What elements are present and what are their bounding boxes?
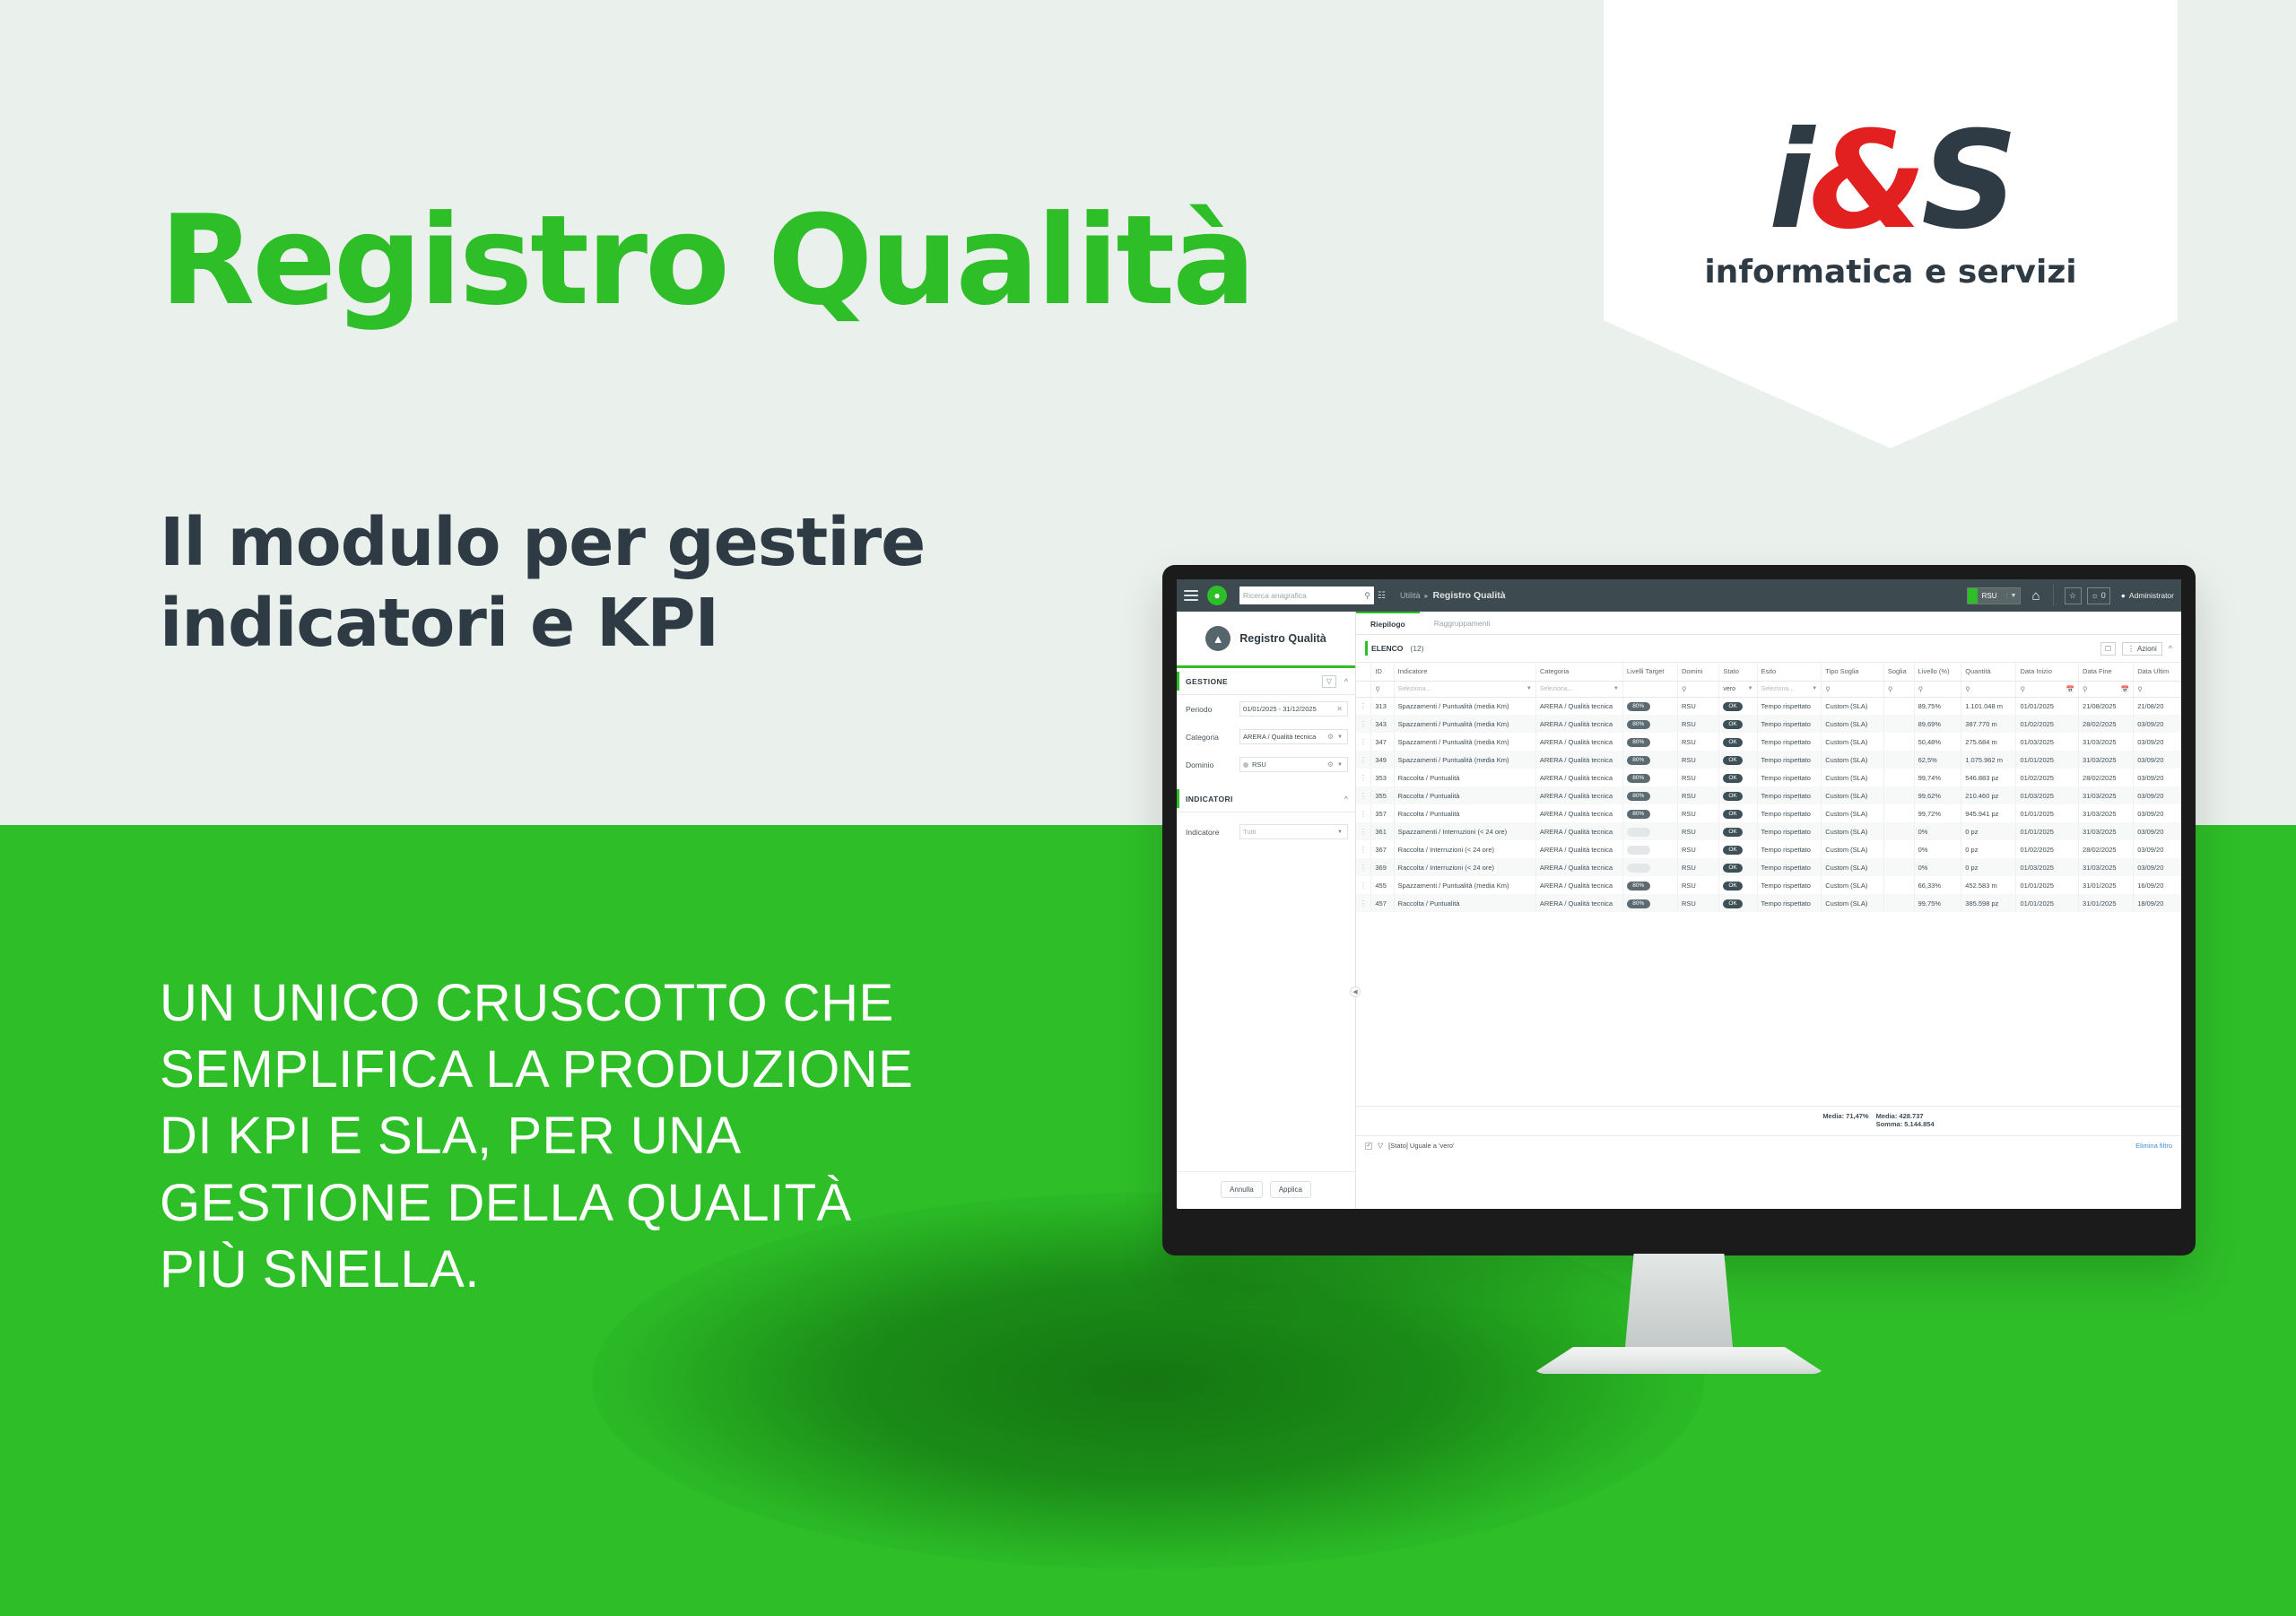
notifications-count: 0 bbox=[2101, 591, 2106, 600]
breadcrumb-separator-icon: ▸ bbox=[1424, 592, 1428, 600]
cell-domini: RSU bbox=[1677, 697, 1718, 715]
tab-bar: Riepilogo Raggruppamenti bbox=[1356, 612, 2181, 635]
col-indicatore[interactable]: Indicatore bbox=[1394, 663, 1535, 681]
chevron-down-icon[interactable]: ▼ bbox=[1335, 734, 1344, 740]
cell-categoria: ARERA / Qualità tecnica bbox=[1535, 840, 1622, 858]
cell-categoria: ARERA / Qualità tecnica bbox=[1535, 822, 1622, 840]
filter-enabled-checkbox[interactable]: ✓ bbox=[1365, 1142, 1372, 1150]
sidebar-section-gestione[interactable]: GESTIONE ▽ ^ bbox=[1177, 668, 1355, 695]
sidebar: ▲ Registro Qualità GESTIONE ▽ ^ Periodo bbox=[1177, 612, 1356, 1209]
chevron-down-icon: ▼ bbox=[1812, 686, 1817, 691]
cell-livello: 99,74% bbox=[1914, 769, 1961, 786]
chevron-down-icon: ▼ bbox=[1613, 686, 1619, 691]
cell-livello: 89,69% bbox=[1914, 715, 1961, 733]
cell-soglia bbox=[1883, 769, 1914, 786]
row-drag-handle: ⋮ bbox=[1356, 840, 1371, 858]
cell-livello: 50,48% bbox=[1914, 733, 1961, 751]
cell-livelli-target: 0% bbox=[1622, 858, 1677, 876]
app-topbar: ● Ricerca anagrafica ⚲ ☷ Utilità ▸ Regis… bbox=[1177, 579, 2181, 612]
cell-livello: 99,75% bbox=[1914, 894, 1961, 912]
cell-livello: 99,62% bbox=[1914, 786, 1961, 804]
dominio-value: RSU bbox=[1252, 760, 1326, 769]
logo-wordmark: i&S bbox=[1704, 114, 2076, 248]
col-data-inizio[interactable]: Data Inizio bbox=[2016, 663, 2079, 681]
cell-data-inizio: 01/01/2025 bbox=[2016, 822, 2079, 840]
sidebar-title: Registro Qualità bbox=[1239, 632, 1326, 645]
cell-data-inizio: 01/03/2025 bbox=[2016, 733, 2079, 751]
table-row[interactable]: ⋮355Raccolta / PuntualitàARERA / Qualità… bbox=[1356, 786, 2181, 804]
indicatore-value: Tutti bbox=[1243, 828, 1335, 836]
categoria-value: ARERA / Qualità tecnica bbox=[1243, 733, 1326, 741]
cell-esito: Tempo rispettato bbox=[1757, 894, 1822, 912]
cell-quantita: 0 pz bbox=[1961, 858, 2016, 876]
col-tipo-soglia[interactable]: Tipo Soglia bbox=[1822, 663, 1884, 681]
filter-livelli-target[interactable] bbox=[1622, 681, 1677, 697]
cell-esito: Tempo rispettato bbox=[1757, 876, 1822, 894]
search-icon: ⚲ bbox=[1965, 685, 1970, 693]
row-drag-handle: ⋮ bbox=[1356, 733, 1371, 751]
cell-quantita: 945.941 pz bbox=[1961, 804, 2016, 822]
row-drag-handle: ⋮ bbox=[1356, 894, 1371, 912]
field-label-periodo: Periodo bbox=[1186, 705, 1239, 714]
breadcrumb: Utilità ▸ Registro Qualità bbox=[1400, 590, 1506, 601]
logo-tagline: informatica e servizi bbox=[1704, 254, 2076, 291]
cell-livello: 0% bbox=[1914, 858, 1961, 876]
cell-tipo-soglia: Custom (SLA) bbox=[1822, 840, 1884, 858]
table-row[interactable]: ⋮347Spazzamenti / Puntualità (media Km)A… bbox=[1356, 733, 2181, 751]
actions-label: Azioni bbox=[2137, 645, 2157, 653]
sidebar-collapse-handle[interactable]: ◀ bbox=[1350, 986, 1361, 997]
cell-domini: RSU bbox=[1677, 715, 1718, 733]
cell-stato: OK bbox=[1719, 858, 1757, 876]
topbar-divider bbox=[2053, 585, 2054, 606]
cell-soglia bbox=[1883, 858, 1914, 876]
breadcrumb-current: Registro Qualità bbox=[1433, 590, 1506, 601]
sidebar-section-indicatori[interactable]: INDICATORI ^ bbox=[1177, 786, 1355, 812]
cell-data-fine: 31/03/2025 bbox=[2079, 804, 2134, 822]
cell-indicatore: Spazzamenti / Puntualità (media Km) bbox=[1394, 876, 1535, 894]
cell-esito: Tempo rispettato bbox=[1757, 822, 1822, 840]
cell-data-ultim: 03/09/20 bbox=[2134, 786, 2181, 804]
cell-id: 361 bbox=[1371, 822, 1394, 840]
advanced-search-icon[interactable]: ☷ bbox=[1378, 591, 1386, 601]
col-stato[interactable]: Stato bbox=[1719, 663, 1757, 681]
cell-quantita: 0 pz bbox=[1961, 822, 2016, 840]
cell-soglia bbox=[1883, 876, 1914, 894]
cell-id: 357 bbox=[1371, 804, 1394, 822]
cell-livelli-target: 80% bbox=[1622, 751, 1677, 769]
filter-placeholder: Seleziona... bbox=[1540, 686, 1611, 692]
cell-categoria: ARERA / Qualità tecnica bbox=[1535, 786, 1622, 804]
cell-esito: Tempo rispettato bbox=[1757, 697, 1822, 715]
col-categoria[interactable]: Categoria bbox=[1535, 663, 1622, 681]
cell-esito: Tempo rispettato bbox=[1757, 786, 1822, 804]
cell-data-inizio: 01/02/2025 bbox=[2016, 769, 2079, 786]
monitor-bezel: ● Ricerca anagrafica ⚲ ☷ Utilità ▸ Regis… bbox=[1162, 565, 2196, 1255]
chevron-down-icon[interactable]: ▼ bbox=[1335, 830, 1344, 835]
col-livello[interactable]: Livello (%) bbox=[1914, 663, 1961, 681]
cell-livelli-target: 80% bbox=[1622, 876, 1677, 894]
cell-livelli-target: 80% bbox=[1622, 733, 1677, 751]
cell-domini: RSU bbox=[1677, 876, 1718, 894]
data-grid: ID Indicatore Categoria Livelli Target D… bbox=[1356, 662, 2181, 1209]
indicatore-select[interactable]: Tutti ▼ bbox=[1239, 824, 1348, 839]
apply-button[interactable]: Applica bbox=[1270, 1181, 1311, 1198]
gear-icon[interactable]: ⚙ bbox=[1326, 733, 1335, 741]
filter-categoria[interactable]: Seleziona...▼ bbox=[1535, 681, 1622, 697]
section-actions: ▽ ^ bbox=[1322, 675, 1355, 688]
cell-data-inizio: 01/02/2025 bbox=[2016, 715, 2079, 733]
app-logo-icon[interactable]: ● bbox=[1207, 586, 1227, 605]
row-drag-handle: ⋮ bbox=[1356, 769, 1371, 786]
cell-tipo-soglia: Custom (SLA) bbox=[1822, 822, 1884, 840]
cell-data-ultim: 03/09/20 bbox=[2134, 822, 2181, 840]
cell-data-ultim: 21/08/20 bbox=[2134, 697, 2181, 715]
cell-quantita: 0 pz bbox=[1961, 840, 2016, 858]
periodo-input[interactable]: 01/01/2025 - 31/12/2025 ✕ bbox=[1239, 701, 1348, 717]
topbar-right-tools: RSU ▼ ⌂ ☆ ☼ 0 ● Administrator bbox=[1967, 585, 2174, 606]
content-bottom-space bbox=[1356, 1155, 2181, 1209]
filter-tipo-soglia[interactable]: ⚲ bbox=[1822, 681, 1884, 697]
clear-icon[interactable]: ✕ bbox=[1335, 705, 1344, 713]
categoria-select[interactable]: ARERA / Qualità tecnica ⚙ ▼ bbox=[1239, 729, 1348, 744]
filter-soglia[interactable]: ⚲ bbox=[1883, 681, 1914, 697]
row-drag-handle: ⋮ bbox=[1356, 858, 1371, 876]
col-domini[interactable]: Domini bbox=[1677, 663, 1718, 681]
search-icon[interactable]: ⚲ bbox=[1364, 591, 1370, 601]
field-label-dominio: Dominio bbox=[1186, 760, 1239, 769]
filter-stato-value: vero bbox=[1723, 686, 1744, 692]
cell-livelli-target: 80% bbox=[1622, 894, 1677, 912]
filter-icon[interactable]: ▽ bbox=[1322, 675, 1336, 688]
cell-indicatore: Raccolta / Interruzioni (< 24 ore) bbox=[1394, 840, 1535, 858]
filter-id[interactable]: ⚲ bbox=[1371, 681, 1394, 697]
logo-ampersand: & bbox=[1809, 103, 1921, 259]
row-drag-handle: ⋮ bbox=[1356, 751, 1371, 769]
dominio-color-dot bbox=[1243, 762, 1248, 768]
company-logo: i&S informatica e servizi bbox=[1704, 114, 2076, 291]
chevron-down-icon[interactable]: ▼ bbox=[1335, 762, 1344, 768]
bell-glyph: ☼ bbox=[2092, 591, 2099, 600]
sidebar-header: ▲ Registro Qualità bbox=[1177, 612, 1355, 665]
cancel-button[interactable]: Annulla bbox=[1221, 1181, 1263, 1198]
cell-id: 367 bbox=[1371, 840, 1394, 858]
cell-stato: OK bbox=[1719, 840, 1757, 858]
module-icon: ▲ bbox=[1205, 626, 1231, 651]
cell-indicatore: Raccolta / Puntualità bbox=[1394, 804, 1535, 822]
search-icon: ⚲ bbox=[1825, 685, 1831, 693]
cell-data-ultim: 16/09/20 bbox=[2134, 876, 2181, 894]
cell-domini: RSU bbox=[1677, 840, 1718, 858]
cell-categoria: ARERA / Qualità tecnica bbox=[1535, 876, 1622, 894]
cell-indicatore: Spazzamenti / Puntualità (media Km) bbox=[1394, 715, 1535, 733]
cell-data-fine: 31/03/2025 bbox=[2079, 822, 2134, 840]
chevron-up-icon[interactable]: ^ bbox=[1344, 677, 1348, 686]
table-row[interactable]: ⋮455Spazzamenti / Puntualità (media Km)A… bbox=[1356, 876, 2181, 894]
filter-data-inizio[interactable]: ⚲📅 bbox=[2016, 681, 2079, 697]
cell-tipo-soglia: Custom (SLA) bbox=[1822, 876, 1884, 894]
cell-domini: RSU bbox=[1677, 822, 1718, 840]
gear-icon[interactable]: ⚙ bbox=[1326, 760, 1335, 769]
cell-id: 355 bbox=[1371, 786, 1394, 804]
total-quantita-media: Media: 428.737 bbox=[1876, 1112, 1935, 1120]
cell-data-inizio: 01/01/2025 bbox=[2016, 804, 2079, 822]
logo-letter-i: i bbox=[1769, 103, 1809, 259]
cell-data-fine: 31/03/2025 bbox=[2079, 733, 2134, 751]
cell-id: 347 bbox=[1371, 733, 1394, 751]
col-soglia[interactable]: Soglia bbox=[1883, 663, 1914, 681]
main-content: Riepilogo Raggruppamenti ELENCO (12) ☐ ⋮… bbox=[1356, 612, 2181, 1209]
search-icon: ⚲ bbox=[1375, 685, 1380, 693]
cell-soglia bbox=[1883, 733, 1914, 751]
actions-menu-button[interactable]: ⋮ Azioni bbox=[2122, 642, 2162, 656]
hamburger-menu-icon[interactable] bbox=[1184, 590, 1198, 601]
cell-data-fine: 28/02/2025 bbox=[2079, 840, 2134, 858]
table-row[interactable]: ⋮353Raccolta / PuntualitàARERA / Qualità… bbox=[1356, 769, 2181, 786]
cell-indicatore: Raccolta / Interruzioni (< 24 ore) bbox=[1394, 858, 1535, 876]
cell-soglia bbox=[1883, 715, 1914, 733]
cell-categoria: ARERA / Qualità tecnica bbox=[1535, 804, 1622, 822]
list-header: ELENCO (12) ☐ ⋮ Azioni ^ bbox=[1356, 635, 2181, 662]
search-icon: ⚲ bbox=[2083, 685, 2088, 693]
cell-esito: Tempo rispettato bbox=[1757, 769, 1822, 786]
cell-indicatore: Raccolta / Puntualità bbox=[1394, 769, 1535, 786]
cell-data-fine: 21/08/2025 bbox=[2079, 697, 2134, 715]
sidebar-spacer bbox=[1177, 846, 1355, 1171]
search-input[interactable]: Ricerca anagrafica ⚲ bbox=[1239, 586, 1374, 604]
cell-esito: Tempo rispettato bbox=[1757, 751, 1822, 769]
logo-letter-s: S bbox=[1921, 103, 2013, 259]
field-dominio: Dominio RSU ⚙ ▼ bbox=[1177, 751, 1355, 778]
page-title: Registro Qualità bbox=[160, 199, 1253, 323]
cell-data-ultim: 18/09/20 bbox=[2134, 894, 2181, 912]
periodo-value: 01/01/2025 - 31/12/2025 bbox=[1243, 705, 1335, 713]
column-chooser-icon[interactable]: ☐ bbox=[2100, 642, 2116, 656]
chevron-up-icon[interactable]: ^ bbox=[1344, 795, 1348, 804]
cell-data-fine: 31/03/2025 bbox=[2079, 786, 2134, 804]
table-row[interactable]: ⋮343Spazzamenti / Puntualità (media Km)A… bbox=[1356, 715, 2181, 733]
notifications-bell-icon[interactable]: ☼ 0 bbox=[2087, 587, 2110, 604]
cell-stato: OK bbox=[1719, 894, 1757, 912]
cell-domini: RSU bbox=[1677, 804, 1718, 822]
field-label-categoria: Categoria bbox=[1186, 733, 1239, 742]
cell-data-inizio: 01/03/2025 bbox=[2016, 858, 2079, 876]
table-body: ⋮313Spazzamenti / Puntualità (media Km)A… bbox=[1356, 697, 2181, 912]
row-drag-handle: ⋮ bbox=[1356, 804, 1371, 822]
calendar-icon[interactable]: 📅 bbox=[2121, 685, 2129, 693]
user-menu[interactable]: ● Administrator bbox=[2121, 591, 2174, 600]
breadcrumb-parent[interactable]: Utilità bbox=[1400, 591, 1421, 600]
home-icon[interactable]: ⌂ bbox=[2031, 588, 2039, 604]
cell-livello: 0% bbox=[1914, 822, 1961, 840]
cell-tipo-soglia: Custom (SLA) bbox=[1822, 769, 1884, 786]
search-icon: ⚲ bbox=[1888, 685, 1893, 693]
section-label-indicatori: INDICATORI bbox=[1186, 795, 1233, 804]
cell-livello: 99,72% bbox=[1914, 804, 1961, 822]
cell-data-ultim: 03/09/20 bbox=[2134, 858, 2181, 876]
cell-indicatore: Raccolta / Puntualità bbox=[1394, 894, 1535, 912]
cart-icon[interactable]: ☆ bbox=[2065, 587, 2082, 604]
cell-stato: OK bbox=[1719, 751, 1757, 769]
cell-categoria: ARERA / Qualità tecnica bbox=[1535, 697, 1622, 715]
cell-data-fine: 28/02/2025 bbox=[2079, 715, 2134, 733]
filter-stato[interactable]: vero▼ bbox=[1719, 681, 1757, 697]
cell-stato: OK bbox=[1719, 822, 1757, 840]
cell-data-inizio: 01/02/2025 bbox=[2016, 840, 2079, 858]
cell-quantita: 1.075.962 m bbox=[1961, 751, 2016, 769]
cell-stato: OK bbox=[1719, 769, 1757, 786]
filter-data-ultim[interactable]: ⚲ bbox=[2134, 681, 2181, 697]
table-row[interactable]: ⋮457Raccolta / PuntualitàARERA / Qualità… bbox=[1356, 894, 2181, 912]
cell-domini: RSU bbox=[1677, 858, 1718, 876]
clear-filter-link[interactable]: Elimina filtro bbox=[2135, 1142, 2172, 1150]
col-esito[interactable]: Esito bbox=[1757, 663, 1822, 681]
cell-data-inizio: 01/01/2025 bbox=[2016, 697, 2079, 715]
cell-data-ultim: 03/09/20 bbox=[2134, 715, 2181, 733]
table-row[interactable]: ⋮313Spazzamenti / Puntualità (media Km)A… bbox=[1356, 697, 2181, 715]
filter-domini[interactable]: ⚲ bbox=[1677, 681, 1718, 697]
filter-indicatore[interactable]: Seleziona...▼ bbox=[1394, 681, 1535, 697]
context-domain-select[interactable]: RSU ▼ bbox=[1967, 587, 2022, 604]
cell-livelli-target: 0% bbox=[1622, 840, 1677, 858]
cell-id: 313 bbox=[1371, 697, 1394, 715]
cell-esito: Tempo rispettato bbox=[1757, 733, 1822, 751]
cell-indicatore: Spazzamenti / Puntualità (media Km) bbox=[1394, 751, 1535, 769]
filter-livello[interactable]: ⚲ bbox=[1914, 681, 1961, 697]
filter-drag bbox=[1356, 681, 1371, 697]
table-header-row: ID Indicatore Categoria Livelli Target D… bbox=[1356, 663, 2181, 681]
context-color-swatch bbox=[1968, 588, 1978, 604]
user-avatar-icon: ● bbox=[2121, 591, 2126, 600]
table-row[interactable]: ⋮349Spazzamenti / Puntualità (media Km)A… bbox=[1356, 751, 2181, 769]
cell-tipo-soglia: Custom (SLA) bbox=[1822, 733, 1884, 751]
cell-data-inizio: 01/01/2025 bbox=[2016, 876, 2079, 894]
cell-data-ultim: 03/09/20 bbox=[2134, 840, 2181, 858]
cell-data-ultim: 03/09/20 bbox=[2134, 751, 2181, 769]
field-periodo: Periodo 01/01/2025 - 31/12/2025 ✕ bbox=[1177, 695, 1355, 723]
filter-icon: ▽ bbox=[1378, 1142, 1383, 1150]
cell-stato: OK bbox=[1719, 804, 1757, 822]
cell-data-fine: 31/01/2025 bbox=[2079, 876, 2134, 894]
filter-data-fine[interactable]: ⚲📅 bbox=[2079, 681, 2134, 697]
list-count: (12) bbox=[1410, 644, 1423, 653]
filter-quantita[interactable]: ⚲ bbox=[1961, 681, 2016, 697]
cell-stato: OK bbox=[1719, 786, 1757, 804]
list-title: ELENCO bbox=[1371, 644, 1403, 653]
section-actions: ^ bbox=[1344, 795, 1355, 804]
field-label-indicatore: Indicatore bbox=[1186, 828, 1239, 837]
filter-placeholder: Seleziona... bbox=[1398, 686, 1524, 692]
search-icon: ⚲ bbox=[1682, 685, 1687, 693]
search-placeholder: Ricerca anagrafica bbox=[1243, 591, 1362, 600]
cell-categoria: ARERA / Qualità tecnica bbox=[1535, 733, 1622, 751]
cell-quantita: 210.460 pz bbox=[1961, 786, 2016, 804]
chevron-down-icon: ▼ bbox=[1748, 686, 1753, 691]
cell-stato: OK bbox=[1719, 697, 1757, 715]
filter-placeholder: Seleziona... bbox=[1761, 686, 1810, 692]
table-row[interactable]: ⋮357Raccolta / PuntualitàARERA / Qualità… bbox=[1356, 804, 2181, 822]
cell-data-ultim: 03/09/20 bbox=[2134, 733, 2181, 751]
tab-riepilogo[interactable]: Riepilogo bbox=[1356, 612, 1420, 634]
cell-quantita: 452.583 m bbox=[1961, 876, 2016, 894]
cell-livello: 89,75% bbox=[1914, 697, 1961, 715]
col-livelli-target[interactable]: Livelli Target bbox=[1622, 663, 1677, 681]
table-row[interactable]: ⋮367Raccolta / Interruzioni (< 24 ore)AR… bbox=[1356, 840, 2181, 858]
chevron-down-icon[interactable]: ▼ bbox=[2006, 593, 2021, 599]
filter-esito[interactable]: Seleziona...▼ bbox=[1757, 681, 1822, 697]
context-domain-value: RSU bbox=[1978, 592, 2006, 600]
cell-indicatore: Raccolta / Puntualità bbox=[1394, 786, 1535, 804]
cell-indicatore: Spazzamenti / Puntualità (media Km) bbox=[1394, 733, 1535, 751]
cell-soglia bbox=[1883, 840, 1914, 858]
monitor-base bbox=[1532, 1347, 1826, 1374]
cell-esito: Tempo rispettato bbox=[1757, 840, 1822, 858]
cell-tipo-soglia: Custom (SLA) bbox=[1822, 894, 1884, 912]
cell-data-fine: 31/01/2025 bbox=[2079, 894, 2134, 912]
row-drag-handle: ⋮ bbox=[1356, 876, 1371, 894]
cell-stato: OK bbox=[1719, 733, 1757, 751]
cell-livelli-target: 80% bbox=[1622, 769, 1677, 786]
cell-indicatore: Spazzamenti / Interruzioni (< 24 ore) bbox=[1394, 822, 1535, 840]
list-header-actions: ☐ ⋮ Azioni ^ bbox=[2100, 642, 2181, 656]
table-filter-row: ⚲ Seleziona...▼ Seleziona...▼ ⚲ vero▼ Se… bbox=[1356, 681, 2181, 697]
cell-categoria: ARERA / Qualità tecnica bbox=[1535, 858, 1622, 876]
dominio-select[interactable]: RSU ⚙ ▼ bbox=[1239, 757, 1348, 772]
cell-data-inizio: 01/03/2025 bbox=[2016, 786, 2079, 804]
cell-id: 455 bbox=[1371, 876, 1394, 894]
total-livello-media: Media: 71,47% bbox=[1356, 1112, 1876, 1128]
poster-bodycopy: UN UNICO CRUSCOTTO CHE SEMPLIFICA LA PRO… bbox=[160, 970, 949, 1303]
cell-livelli-target: 80% bbox=[1622, 804, 1677, 822]
total-quantita: Media: 428.737 Somma: 5.144.854 bbox=[1876, 1112, 1935, 1128]
cell-id: 369 bbox=[1371, 858, 1394, 876]
cell-livelli-target: 80% bbox=[1622, 786, 1677, 804]
chevron-up-icon[interactable]: ^ bbox=[2169, 644, 2172, 653]
grid-empty-space bbox=[1356, 912, 2181, 1106]
search-icon: ⚲ bbox=[2020, 685, 2025, 693]
cell-tipo-soglia: Custom (SLA) bbox=[1822, 786, 1884, 804]
cell-domini: RSU bbox=[1677, 751, 1718, 769]
col-id[interactable]: ID bbox=[1371, 663, 1394, 681]
cell-soglia bbox=[1883, 822, 1914, 840]
col-quantita[interactable]: Quantità bbox=[1961, 663, 2016, 681]
section-label-gestione: GESTIONE bbox=[1186, 677, 1228, 686]
table-row[interactable]: ⋮369Raccolta / Interruzioni (< 24 ore)AR… bbox=[1356, 858, 2181, 876]
cell-esito: Tempo rispettato bbox=[1757, 858, 1822, 876]
cell-tipo-soglia: Custom (SLA) bbox=[1822, 751, 1884, 769]
cell-livello: 62,5% bbox=[1914, 751, 1961, 769]
row-drag-handle: ⋮ bbox=[1356, 822, 1371, 840]
cell-data-ultim: 03/09/20 bbox=[2134, 804, 2181, 822]
cell-categoria: ARERA / Qualità tecnica bbox=[1535, 751, 1622, 769]
row-drag-handle: ⋮ bbox=[1356, 786, 1371, 804]
table-row[interactable]: ⋮361Spazzamenti / Interruzioni (< 24 ore… bbox=[1356, 822, 2181, 840]
col-data-fine[interactable]: Data Fine bbox=[2079, 663, 2134, 681]
monitor-neck bbox=[1625, 1254, 1733, 1347]
col-data-ultim[interactable]: Data Ultim bbox=[2134, 663, 2181, 681]
cell-soglia bbox=[1883, 751, 1914, 769]
cell-data-inizio: 01/01/2025 bbox=[2016, 751, 2079, 769]
tab-raggruppamenti[interactable]: Raggruppamenti bbox=[1420, 612, 1505, 634]
cell-esito: Tempo rispettato bbox=[1757, 804, 1822, 822]
cell-data-inizio: 01/01/2025 bbox=[2016, 894, 2079, 912]
cell-data-fine: 28/02/2025 bbox=[2079, 769, 2134, 786]
filter-expression: [Stato] Uguale a 'vero' bbox=[1388, 1142, 1454, 1150]
col-drag bbox=[1356, 663, 1371, 681]
calendar-icon[interactable]: 📅 bbox=[2066, 685, 2074, 693]
cell-data-fine: 31/03/2025 bbox=[2079, 858, 2134, 876]
cell-soglia bbox=[1883, 894, 1914, 912]
